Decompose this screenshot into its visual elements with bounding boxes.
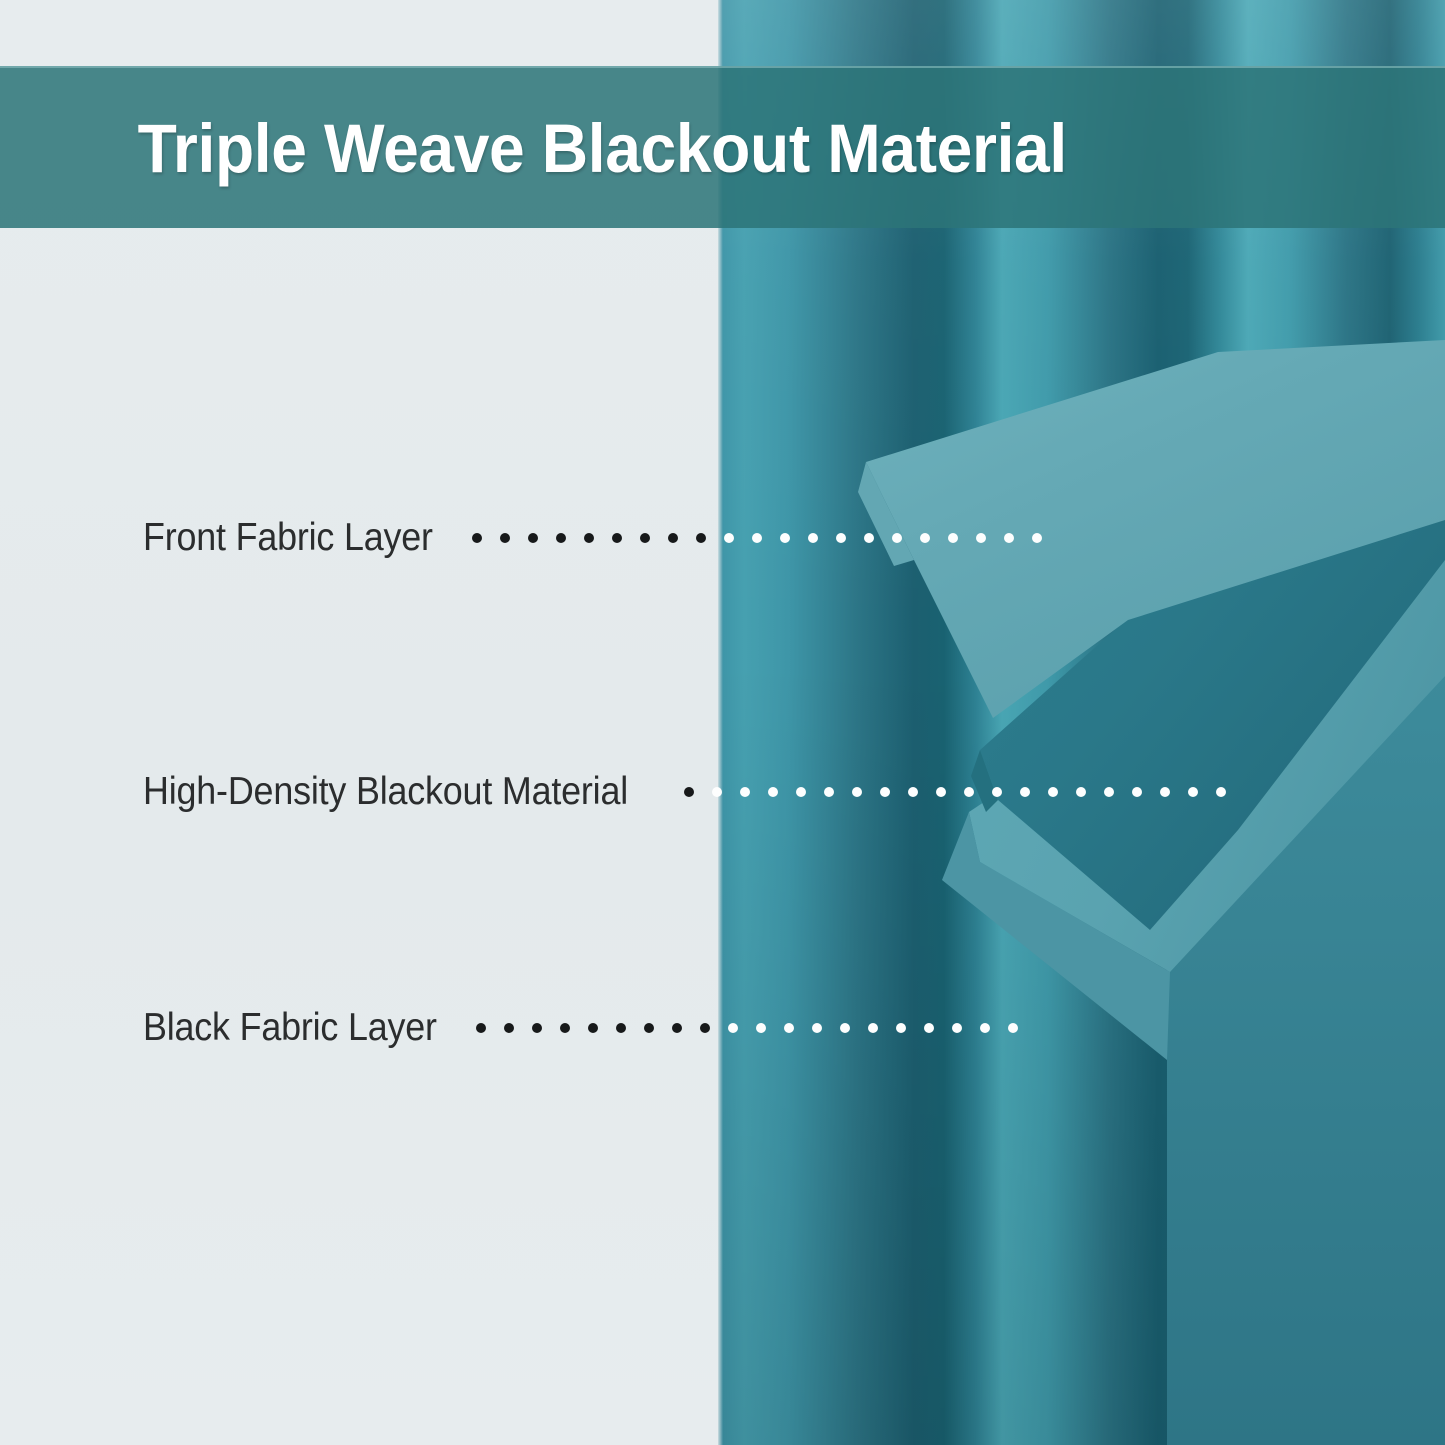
leader-dot (1160, 787, 1170, 797)
title-banner: Triple Weave Blackout Material (0, 66, 1445, 228)
leader-dot (920, 533, 930, 543)
leader-dot (640, 533, 650, 543)
callout-row-high-density-blackout-material: High-Density Blackout Material (143, 769, 1244, 815)
leader-dot (880, 787, 890, 797)
page-title: Triple Weave Blackout Material (0, 114, 1067, 183)
leader-dot (936, 787, 946, 797)
leader-dot (528, 533, 538, 543)
leader-dot (1216, 787, 1226, 797)
leader-dot (892, 533, 902, 543)
leader-dot (980, 1023, 990, 1033)
leader-dot (976, 533, 986, 543)
leader-dots-high-density-blackout-material (684, 769, 1244, 815)
leader-dot (908, 787, 918, 797)
leader-dot (1008, 1023, 1018, 1033)
product-infographic: Triple Weave Blackout Material Front Fab… (0, 0, 1445, 1445)
leader-dot (588, 1023, 598, 1033)
leader-dot (992, 787, 1002, 797)
leader-dots-black-fabric-layer (476, 1005, 1036, 1051)
leader-dot (924, 1023, 934, 1033)
leader-dot (1048, 787, 1058, 797)
leader-dot (1104, 787, 1114, 797)
leader-dot (616, 1023, 626, 1033)
leader-dot (768, 787, 778, 797)
leader-dot (684, 787, 694, 797)
leader-dot (532, 1023, 542, 1033)
leader-dot (672, 1023, 682, 1033)
leader-dot (724, 533, 734, 543)
leader-dot (948, 533, 958, 543)
leader-dot (964, 787, 974, 797)
leader-dot (808, 533, 818, 543)
leader-dot (780, 533, 790, 543)
callout-label-high-density-blackout-material: High-Density Blackout Material (143, 769, 628, 815)
leader-dot (756, 1023, 766, 1033)
callout-row-front-fabric-layer: Front Fabric Layer (143, 515, 1060, 561)
leader-dot (840, 1023, 850, 1033)
leader-dot (556, 533, 566, 543)
leader-dot (1020, 787, 1030, 797)
leader-dot (836, 533, 846, 543)
leader-dot (752, 533, 762, 543)
leader-dot (712, 787, 722, 797)
leader-dot (500, 533, 510, 543)
leader-dot (700, 1023, 710, 1033)
leader-dot (852, 787, 862, 797)
leader-dot (476, 1023, 486, 1033)
leader-dots-front-fabric-layer (472, 515, 1060, 561)
leader-dot (696, 533, 706, 543)
leader-dot (612, 533, 622, 543)
leader-dot (1004, 533, 1014, 543)
leader-dot (784, 1023, 794, 1033)
leader-dot (504, 1023, 514, 1033)
leader-dot (952, 1023, 962, 1033)
leader-dot (584, 533, 594, 543)
leader-dot (644, 1023, 654, 1033)
leader-dot (560, 1023, 570, 1033)
leader-dot (1132, 787, 1142, 797)
leader-dot (472, 533, 482, 543)
leader-dot (896, 1023, 906, 1033)
leader-dot (864, 533, 874, 543)
leader-dot (668, 533, 678, 543)
leader-dot (740, 787, 750, 797)
leader-dot (728, 1023, 738, 1033)
leader-dot (1032, 533, 1042, 543)
leader-dot (1076, 787, 1086, 797)
callout-label-black-fabric-layer: Black Fabric Layer (143, 1005, 437, 1051)
callout-row-black-fabric-layer: Black Fabric Layer (143, 1005, 1036, 1051)
callout-label-front-fabric-layer: Front Fabric Layer (143, 515, 433, 561)
leader-dot (868, 1023, 878, 1033)
leader-dot (1188, 787, 1198, 797)
leader-dot (796, 787, 806, 797)
leader-dot (812, 1023, 822, 1033)
leader-dot (824, 787, 834, 797)
